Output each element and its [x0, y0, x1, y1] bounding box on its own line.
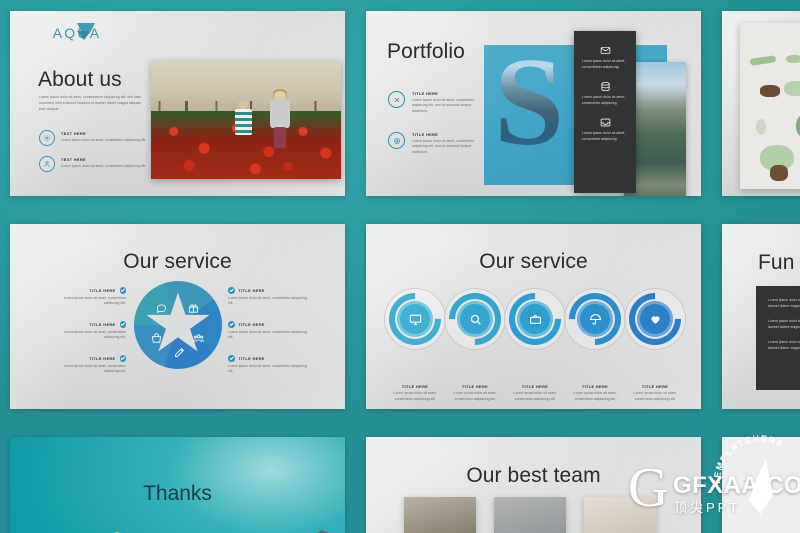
team-member-card-1[interactable]: [404, 497, 476, 533]
check-circle-icon: [120, 321, 127, 328]
settings-gear-icon: [39, 130, 55, 146]
item-title: TITLE HERE: [89, 322, 115, 327]
page-title: About us: [38, 69, 122, 90]
watermark-logo-glyph: G: [628, 466, 675, 513]
slide-our-service-star[interactable]: Our service TITLE HERE Lorem ipsum dolor…: [10, 224, 345, 409]
item-title: TITLE HERE: [239, 356, 265, 361]
chain-caption-1: TITLE HERE Lorem ipsum dolor sit amet, c…: [384, 384, 446, 403]
chain-caption-5: TITLE HERE Lorem ipsum dolor sit amet, c…: [624, 384, 686, 403]
chain-caption-3: TITLE HERE Lorem ipsum dolor sit amet, c…: [504, 384, 566, 403]
slide-about-us[interactable]: AQUA About us Lorem ipsum dolor sit amet…: [10, 11, 345, 196]
brand-logo: AQUA: [41, 23, 113, 41]
star-left-item-2[interactable]: TITLE HERE Lorem ipsum dolor sit amet, c…: [50, 321, 126, 341]
feature-title: TITLE HERE: [412, 91, 480, 96]
page-title: Our service: [10, 251, 345, 272]
check-circle-icon: [228, 355, 235, 362]
portfolio-dark-item-1[interactable]: Lorem ipsum dolor sit amet, consectetuer…: [582, 45, 628, 71]
chain-step-1[interactable]: TITLE HERE Lorem ipsum dolor sit amet, c…: [384, 288, 446, 350]
user-person-icon: [39, 156, 55, 172]
star-left-item-1[interactable]: TITLE HERE Lorem ipsum dolor sit amet, c…: [50, 287, 126, 307]
step-body: Lorem ipsum dolor sit amet, consectetur …: [384, 391, 446, 403]
badge-text-path: TEMPLATEHERE: [712, 433, 786, 485]
item-body: Lorem ipsum dolor sit amet, consectetur …: [228, 364, 310, 376]
item-title: TITLE HERE: [89, 356, 115, 361]
database-stack-icon: [600, 81, 611, 92]
fun-fact-paragraph-3: Lorem ipsum dolor sit amet, consectetur …: [768, 340, 800, 352]
inbox-tray-icon: [600, 117, 611, 128]
search-magnifier-icon: [469, 313, 482, 326]
item-body: Lorem ipsum dolor sit amet, consectetuer…: [582, 59, 628, 71]
about-feature-1[interactable]: TEXT HERE Lorem ipsum dolor sit amet, co…: [39, 130, 146, 146]
chain-step-3[interactable]: TITLE HERE Lorem ipsum dolor sit amet, c…: [504, 288, 566, 350]
brand-logo-text: AQUA: [41, 25, 113, 41]
page-title: Thanks: [10, 482, 345, 506]
portfolio-dark-item-2[interactable]: Lorem ipsum dolor sit amet, consectetur …: [582, 81, 628, 107]
template-here-badge: TEMPLATEHERE: [714, 442, 800, 533]
chain-step-2[interactable]: TITLE HERE Lorem ipsum dolor sit amet, c…: [444, 288, 506, 350]
step-title: TITLE HERE: [444, 384, 506, 389]
check-circle-icon: [228, 321, 235, 328]
item-body: Lorem ipsum dolor sit amet, consectetur …: [582, 131, 628, 143]
heart-icon: [649, 313, 662, 326]
slide-plants[interactable]: [722, 11, 800, 196]
feature-body: Lorem ipsum dolor sit amet, consectetur …: [412, 139, 480, 157]
item-title: TITLE HERE: [239, 322, 265, 327]
feature-body: Lorem ipsum dolor sit amet, consectetur …: [412, 98, 480, 116]
step-title: TITLE HERE: [564, 384, 626, 389]
chain-step-4[interactable]: TITLE HERE Lorem ipsum dolor sit amet, c…: [564, 288, 626, 350]
chain-caption-4: TITLE HERE Lorem ipsum dolor sit amet, c…: [564, 384, 626, 403]
check-circle-icon: [120, 287, 127, 294]
step-body: Lorem ipsum dolor sit amet, consectetur …: [504, 391, 566, 403]
page-title: Fun fact: [758, 252, 800, 273]
tulip-field-photo: [151, 61, 341, 179]
team-member-card-2[interactable]: [494, 497, 566, 533]
envelope-mail-icon: [600, 45, 611, 56]
item-body: Lorem ipsum dolor sit amet, consectetur …: [582, 95, 628, 107]
star-right-item-3[interactable]: TITLE HERE Lorem ipsum dolor sit amet, c…: [228, 355, 310, 375]
about-feature-2[interactable]: TEXT HERE Lorem ipsum dolor sit amet, co…: [39, 156, 146, 172]
fun-fact-paragraph-1: Lorem ipsum dolor sit amet, consectetur …: [768, 298, 800, 310]
fun-fact-dark-panel: Lorem ipsum dolor sit amet, consectetur …: [756, 286, 800, 390]
step-body: Lorem ipsum dolor sit amet, consectetur …: [624, 391, 686, 403]
slide-fun-fact[interactable]: Fun fact Lorem ipsum dolor sit amet, con…: [722, 224, 800, 409]
portfolio-dark-panel: Lorem ipsum dolor sit amet, consectetuer…: [574, 31, 636, 193]
slide-portfolio[interactable]: Portfolio TITLE HERE Lorem ipsum dolor s…: [366, 11, 701, 196]
umbrella-shield-icon: [589, 313, 602, 326]
feature-body: Lorem ipsum dolor sit amet, consectetur …: [61, 138, 146, 144]
gift-box-icon: [188, 303, 199, 314]
pencil-edit-icon: [174, 347, 185, 358]
shopping-basket-icon: [151, 333, 162, 344]
page-title: Portfolio: [387, 41, 465, 62]
fun-fact-paragraph-2: Lorem ipsum dolor sit amet, consectetur …: [768, 319, 800, 331]
item-body: Lorem ipsum dolor sit amet, consectetur …: [228, 330, 310, 342]
feature-title: TITLE HERE: [412, 132, 480, 137]
close-x-circle-icon: [388, 91, 405, 108]
step-body: Lorem ipsum dolor sit amet, consectetur …: [444, 391, 506, 403]
process-chain: TITLE HERE Lorem ipsum dolor sit amet, c…: [384, 288, 684, 350]
item-body: Lorem ipsum dolor sit amet, consectetur …: [50, 364, 126, 376]
item-title: TITLE HERE: [239, 288, 265, 293]
star-diagram: [134, 281, 222, 369]
star-right-item-2[interactable]: TITLE HERE Lorem ipsum dolor sit amet, c…: [228, 321, 310, 341]
target-circle-icon: [388, 132, 405, 149]
badge-text: TEMPLATEHERE: [712, 433, 786, 485]
feature-body: Lorem ipsum dolor sit amet, consectetur …: [61, 164, 146, 170]
chain-caption-2: TITLE HERE Lorem ipsum dolor sit amet, c…: [444, 384, 506, 403]
check-circle-icon: [228, 287, 235, 294]
slide-thanks[interactable]: Thanks: [10, 437, 345, 533]
item-body: Lorem ipsum dolor sit amet, consectetur …: [50, 330, 126, 342]
item-title: TITLE HERE: [89, 288, 115, 293]
television-icon: [529, 313, 542, 326]
succulent-plants-photo: [740, 23, 800, 189]
portfolio-feature-1[interactable]: TITLE HERE Lorem ipsum dolor sit amet, c…: [388, 91, 480, 115]
chat-bubble-icon: [156, 303, 167, 314]
portfolio-feature-2[interactable]: TITLE HERE Lorem ipsum dolor sit amet, c…: [388, 132, 480, 156]
step-title: TITLE HERE: [624, 384, 686, 389]
people-group-icon: [193, 333, 204, 344]
slide-our-service-chain[interactable]: Our service TITLE HERE Lorem ipsum dolor…: [366, 224, 701, 409]
check-circle-icon: [120, 355, 127, 362]
star-left-item-3[interactable]: TITLE HERE Lorem ipsum dolor sit amet, c…: [50, 355, 126, 375]
feature-title: TEXT HERE: [61, 131, 146, 136]
item-body: Lorem ipsum dolor sit amet, consectetur …: [50, 296, 126, 308]
page-title: Our service: [366, 251, 701, 272]
chain-step-5[interactable]: TITLE HERE Lorem ipsum dolor sit amet, c…: [624, 288, 686, 350]
feature-title: TEXT HERE: [61, 157, 146, 162]
step-body: Lorem ipsum dolor sit amet, consectetur …: [564, 391, 626, 403]
portfolio-dark-item-3[interactable]: Lorem ipsum dolor sit amet, consectetur …: [582, 117, 628, 143]
monitor-screen-icon: [409, 313, 422, 326]
step-title: TITLE HERE: [384, 384, 446, 389]
star-right-item-1[interactable]: TITLE HERE Lorem ipsum dolor sit amet, c…: [228, 287, 310, 307]
about-body-text: Lorem ipsum dolor sit amet, consectetuer…: [39, 95, 142, 113]
step-title: TITLE HERE: [504, 384, 566, 389]
item-body: Lorem ipsum dolor sit amet, consectetur …: [228, 296, 310, 308]
